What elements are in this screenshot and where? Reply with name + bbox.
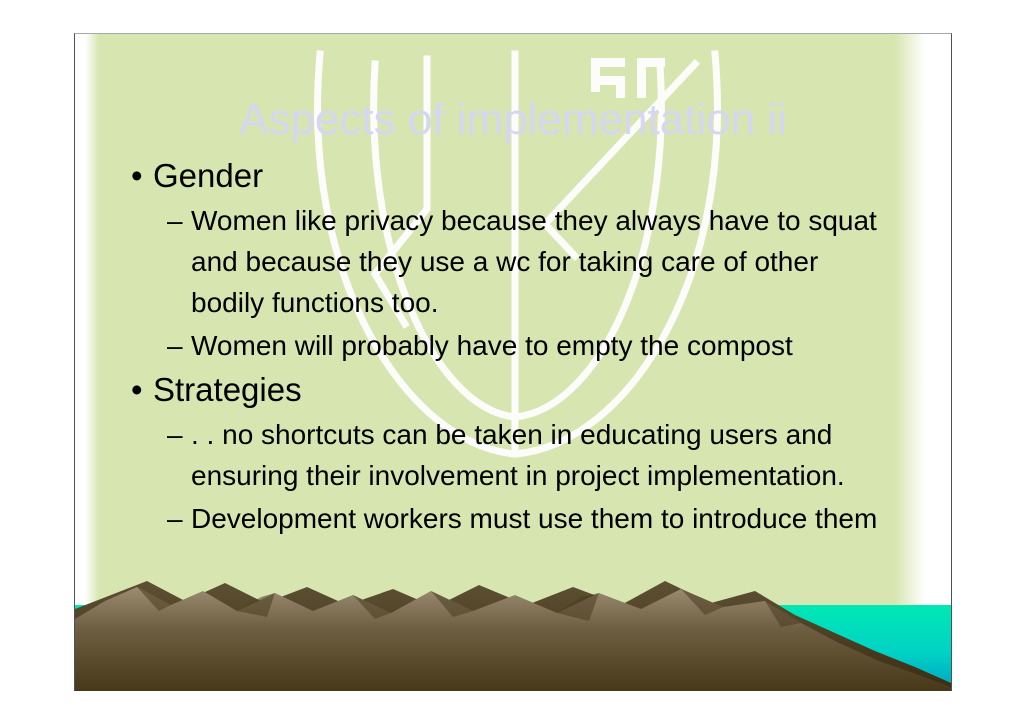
dash-marker-icon: –	[167, 498, 191, 539]
bullet-item-no-shortcuts: – . . no shortcuts can be taken in educa…	[125, 414, 945, 496]
slide-frame: Aspects of implementation ii • Gender – …	[74, 33, 952, 691]
bullet-text: Gender	[153, 154, 263, 198]
bullet-item-development-workers: – Development workers must use them to i…	[125, 498, 945, 539]
bullet-item-gender: • Gender	[125, 154, 945, 198]
bullet-text: . . no shortcuts can be taken in educati…	[191, 414, 881, 496]
bullet-item-strategies: • Strategies	[125, 368, 945, 412]
slide-body-list: • Gender – Women like privacy because th…	[125, 154, 945, 541]
bullet-marker-icon: •	[125, 368, 153, 412]
bullet-text: Women will probably have to empty the co…	[191, 325, 793, 366]
slide-canvas: Aspects of implementation ii • Gender – …	[0, 0, 1024, 724]
dash-marker-icon: –	[167, 414, 191, 455]
bullet-text: Strategies	[153, 368, 302, 412]
dash-marker-icon: –	[167, 200, 191, 241]
bullet-text: Development workers must use them to int…	[191, 498, 877, 539]
bullet-item-women-compost: – Women will probably have to empty the …	[125, 325, 945, 366]
bullet-text: Women like privacy because they always h…	[191, 200, 881, 323]
dash-marker-icon: –	[167, 325, 191, 366]
bullet-item-women-privacy: – Women like privacy because they always…	[125, 200, 945, 323]
bullet-marker-icon: •	[125, 154, 153, 198]
slide-title: Aspects of implementation ii	[75, 94, 951, 146]
